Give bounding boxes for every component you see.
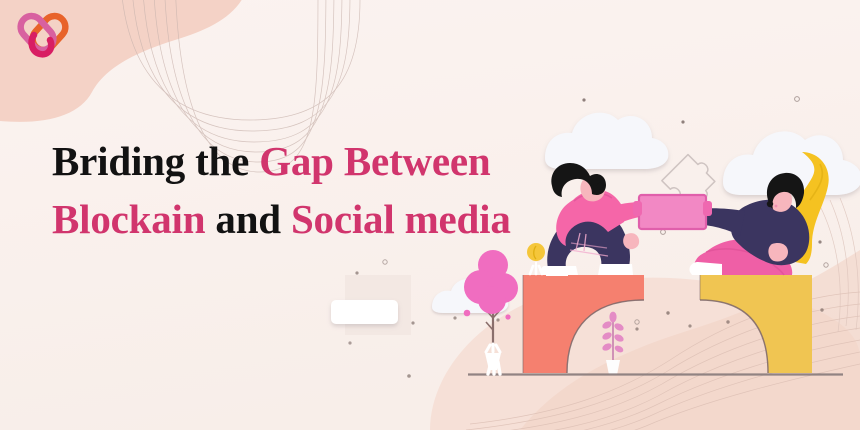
headline-line2-accent-2: Social media	[291, 196, 511, 242]
headline-line2-accent-1: Blockain	[52, 196, 205, 242]
bridge-plank	[633, 195, 712, 229]
person-right-shoe	[689, 262, 722, 275]
headline-line1-plain: Briding the	[52, 138, 259, 184]
white-rounded-card	[331, 300, 398, 324]
headline-line1-accent: Gap Between	[259, 138, 490, 184]
fern-pot	[606, 360, 620, 375]
person-left-hand-back	[623, 233, 639, 249]
headline-line2-plain: and	[205, 196, 291, 242]
pink-fern-plant	[601, 312, 625, 375]
grass-tuft	[488, 360, 500, 374]
cloud-large-left	[545, 113, 668, 169]
headline: Briding the Gap Between Blockain and Soc…	[52, 132, 522, 248]
headline-line-2: Blockain and Social media	[52, 190, 522, 248]
person-left-shoe	[541, 266, 578, 275]
person-left-shoe-2	[598, 264, 633, 275]
headline-line-1: Briding the Gap Between	[52, 132, 522, 190]
person-right-hand-lap	[768, 243, 788, 262]
hero-banner: Briding the Gap Between Blockain and Soc…	[0, 0, 860, 430]
bridge-pier-right	[700, 275, 812, 373]
bridge-pier-left	[523, 275, 644, 373]
